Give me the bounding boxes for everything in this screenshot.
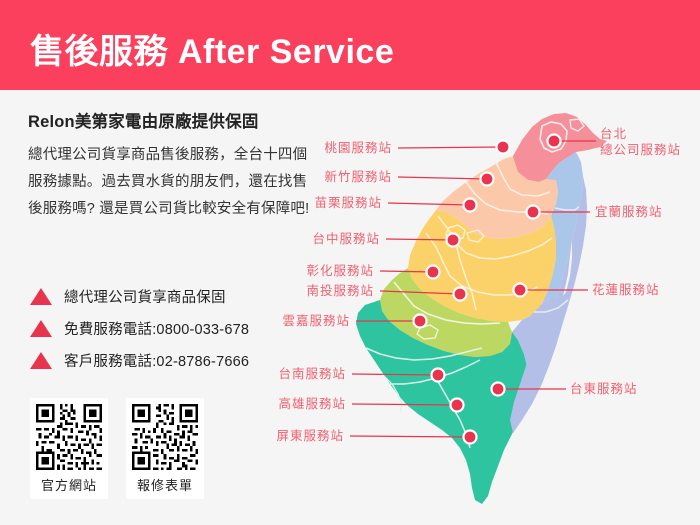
taiwan-service-map: 桃園服務站 新竹服務站 苗栗服務站 台中服務站 彰化服務站 南投服務站 雲嘉服務… (270, 100, 700, 525)
qr-code-icon (132, 404, 198, 470)
triangle-bullet-icon (30, 352, 52, 369)
leader-line-taoyuan (398, 147, 503, 148)
station-dot-yilan (527, 206, 540, 219)
station-label-taoyuan[interactable]: 桃園服務站 (322, 141, 392, 157)
poster-root: 售後服務 After Service Relon美第家電由原廠提供保固 總代理公… (0, 0, 700, 525)
station-label-miaoli[interactable]: 苗栗服務站 (312, 196, 382, 212)
qr-label: 官方網站 (41, 475, 97, 494)
station-dot-hsinchu (481, 173, 494, 186)
qr-official-website[interactable]: 官方網站 (30, 398, 108, 499)
station-label-tainan[interactable]: 台南服務站 (276, 367, 346, 383)
station-label-changhua[interactable]: 彰化服務站 (304, 264, 374, 280)
qr-code-icon (36, 404, 102, 470)
station-label-yilan[interactable]: 宜蘭服務站 (595, 205, 663, 221)
station-dot-yunchia (414, 315, 427, 328)
station-dot-taoyuan (497, 141, 510, 154)
station-label-kaohsiung[interactable]: 高雄服務站 (276, 397, 346, 413)
station-label-taipei-line2: 總公司服務站 (600, 143, 681, 157)
triangle-bullet-icon (30, 288, 52, 305)
bullet-label: 總代理公司貨享商品保固 (64, 286, 226, 307)
station-dot-taitung (492, 383, 505, 396)
station-dot-taipei (548, 135, 561, 148)
station-label-taichung[interactable]: 台中服務站 (310, 232, 380, 248)
station-label-pingtung[interactable]: 屏東服務站 (274, 429, 344, 445)
station-dot-miaoli (464, 199, 477, 212)
station-dot-kaohsiung (451, 399, 464, 412)
station-dot-taichung (447, 234, 460, 247)
station-dot-changhua (427, 266, 440, 279)
station-dot-nantou (454, 288, 467, 301)
bullet-label: 客戶服務電話:02-8786-7666 (64, 350, 249, 371)
station-label-hualien[interactable]: 花蓮服務站 (592, 283, 660, 299)
page-title: 售後服務 After Service (30, 24, 394, 73)
qr-code-group: 官方網站 (30, 398, 204, 499)
qr-repair-form[interactable]: 報修表單 (126, 398, 204, 499)
station-dot-tainan (432, 369, 445, 382)
station-dot-hualien (514, 284, 527, 297)
station-label-hsinchu[interactable]: 新竹服務站 (322, 170, 392, 186)
taiwan-map-svg (270, 100, 700, 525)
station-label-taipei[interactable]: 台北 總公司服務站 (600, 127, 681, 158)
station-dot-pingtung (464, 431, 477, 444)
station-label-yunchia[interactable]: 雲嘉服務站 (280, 314, 350, 330)
page-header: 售後服務 After Service (0, 0, 700, 90)
qr-label: 報修表單 (137, 475, 193, 494)
triangle-bullet-icon (30, 320, 52, 337)
map-regions (356, 113, 607, 504)
station-label-taipei-line1: 台北 (600, 127, 627, 141)
station-label-nantou[interactable]: 南投服務站 (304, 284, 374, 300)
bullet-label: 免費服務電話:0800-033-678 (64, 318, 249, 339)
station-label-taitung[interactable]: 台東服務站 (570, 382, 638, 398)
